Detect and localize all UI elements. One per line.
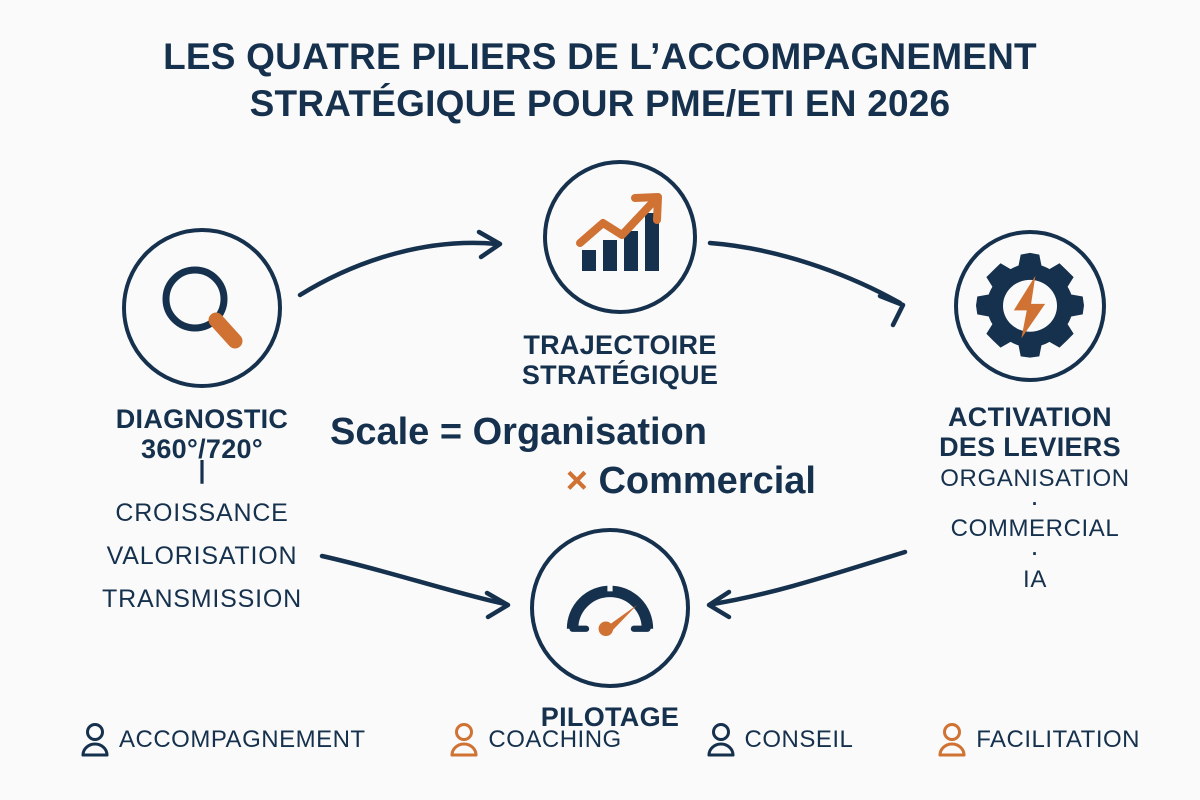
equation-line-2: × Commercial	[330, 457, 820, 506]
activation-circle	[954, 230, 1106, 382]
person-icon	[706, 722, 736, 758]
person-icon	[80, 722, 110, 758]
multiply-symbol: ×	[566, 460, 588, 502]
growth-chart-icon	[570, 187, 670, 287]
pillar-trajectoire[interactable]: TRAJECTOIRE STRATÉGIQUE	[455, 160, 785, 390]
title-line-2: STRATÉGIQUE POUR PME/ETI EN 2026	[0, 81, 1200, 128]
activation-label-line-1: ACTIVATION	[948, 402, 1112, 432]
pillar-pilotage[interactable]: PILOTAGE	[470, 528, 750, 732]
person-icon	[937, 722, 967, 758]
gauge-icon	[558, 556, 662, 660]
legend-label-conseil: CONSEIL	[745, 726, 854, 754]
pillar-diagnostic[interactable]: DIAGNOSTIC 360°/720°	[62, 228, 342, 464]
legend-item-accompagnement[interactable]: ACCOMPAGNEMENT	[80, 722, 366, 758]
activation-sublist: · ORGANISATION · COMMERCIAL · IA	[890, 443, 1180, 594]
diagnostic-sublist: | CROISSANCE VALORISATION TRANSMISSION	[62, 455, 342, 614]
right-sublist-separator-1: ·	[890, 447, 1180, 462]
sublist-item-croissance: CROISSANCE	[62, 499, 342, 528]
gear-bolt-icon	[976, 252, 1084, 360]
sublist-item-transmission: TRANSMISSION	[62, 585, 342, 614]
legend-label-facilitation: FACILITATION	[976, 726, 1140, 754]
right-sublist-item-organisation: ORGANISATION	[890, 465, 1180, 493]
legend-item-facilitation[interactable]: FACILITATION	[937, 722, 1140, 758]
legend-label-coaching: COACHING	[488, 726, 621, 754]
sublist-divider: |	[62, 457, 342, 485]
magnifier-icon	[150, 256, 254, 360]
pilotage-circle	[530, 528, 690, 688]
page-title: LES QUATRE PILIERS DE L’ACCOMPAGNEMENT S…	[0, 34, 1200, 128]
trajectoire-label-line-1: TRAJECTOIRE	[523, 330, 716, 360]
sublist-item-valorisation: VALORISATION	[62, 542, 342, 571]
right-sublist-separator-3: ·	[890, 547, 1180, 562]
diagnostic-label-line-1: DIAGNOSTIC	[116, 404, 289, 434]
trajectoire-label-line-2: STRATÉGIQUE	[522, 360, 718, 390]
person-icon	[449, 722, 479, 758]
legend-item-coaching[interactable]: COACHING	[449, 722, 621, 758]
legend-label-accompagnement: ACCOMPAGNEMENT	[119, 726, 366, 754]
equation-line-1: Scale = Organisation	[330, 408, 820, 457]
pillar-activation[interactable]: ACTIVATION DES LEVIERS	[880, 230, 1180, 462]
right-sublist-item-commercial: COMMERCIAL	[890, 515, 1180, 543]
diagnostic-circle	[122, 228, 282, 388]
equation-line-2-text: Commercial	[598, 460, 816, 502]
legend-item-conseil[interactable]: CONSEIL	[706, 722, 854, 758]
trajectoire-label: TRAJECTOIRE STRATÉGIQUE	[455, 330, 785, 390]
legend-row: ACCOMPAGNEMENT COACHING CONSEIL FACILITA…	[80, 722, 1140, 758]
right-sublist-item-ia: IA	[890, 566, 1180, 594]
right-sublist-separator-2: ·	[890, 497, 1180, 512]
title-line-1: LES QUATRE PILIERS DE L’ACCOMPAGNEMENT	[0, 34, 1200, 81]
trajectoire-circle	[543, 160, 697, 314]
scale-equation: Scale = Organisation × Commercial	[330, 408, 820, 507]
